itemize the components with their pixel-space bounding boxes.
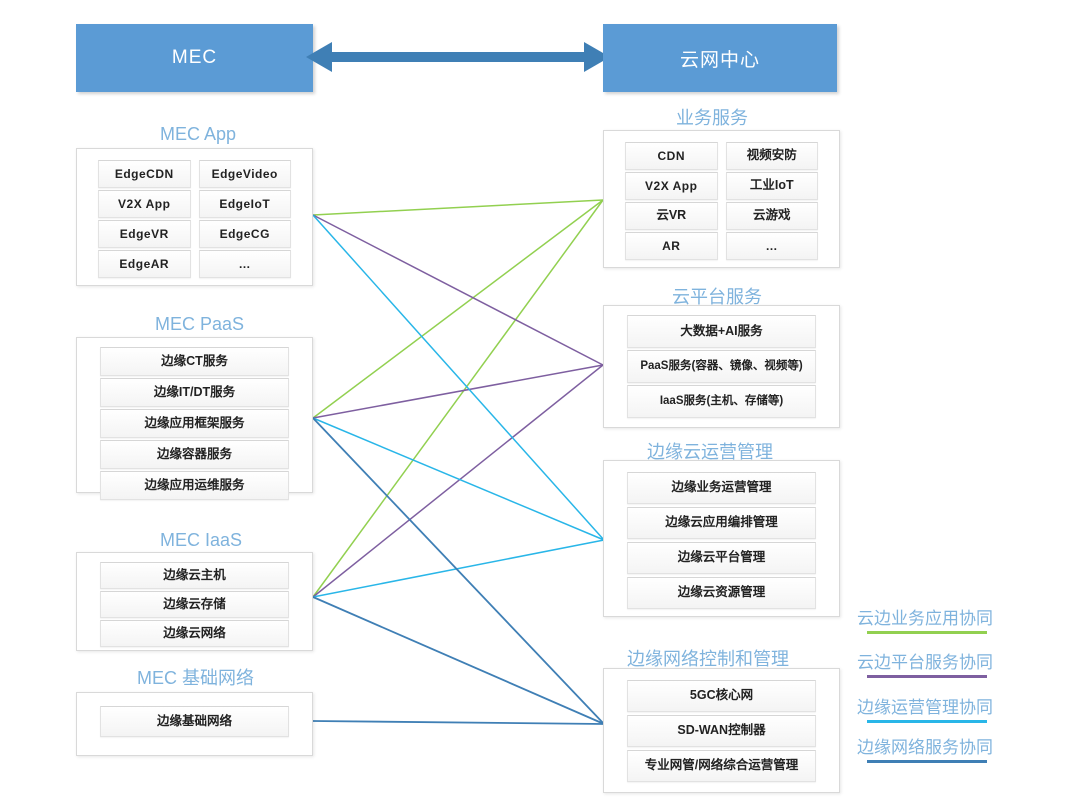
link-paas-to-business — [313, 200, 603, 418]
left-group-0-cell-5[interactable]: EdgeCG — [199, 220, 292, 248]
right-group-2-cell-0[interactable]: 边缘业务运营管理 — [627, 472, 816, 504]
legend-label-1: 云边平台服务协同 — [857, 648, 993, 673]
left-group-1-cell-1[interactable]: 边缘IT/DT服务 — [100, 378, 289, 407]
cell-line-1: (容器、镜像、视频等) — [691, 359, 802, 373]
cloud-center-header-label: 云网中心 — [680, 45, 760, 72]
mec-header-box[interactable]: MEC — [76, 24, 313, 92]
right-group-1-cell-2[interactable]: IaaS服务(主机、存储等) — [627, 385, 816, 418]
left-group-0-cell-0[interactable]: EdgeCDN — [98, 160, 191, 188]
legend-item-2[interactable]: 边缘运营管理协同 — [857, 693, 993, 723]
left-group-1-cell-3[interactable]: 边缘容器服务 — [100, 440, 289, 469]
left-group-title-0: MEC App — [160, 124, 236, 145]
link-paas-to-edge-ops — [313, 418, 604, 540]
legend-label-3: 边缘网络服务协同 — [857, 733, 993, 758]
right-group-0-cell-6[interactable]: AR — [625, 232, 718, 260]
legend-color-rule-1 — [867, 675, 987, 678]
link-iaas-to-network — [313, 597, 604, 724]
right-group-0-cell-1[interactable]: 视频安防 — [726, 142, 819, 170]
legend-item-3[interactable]: 边缘网络服务协同 — [857, 733, 993, 763]
left-group-3-cell-0[interactable]: 边缘基础网络 — [100, 706, 289, 737]
left-group-2-cell-1[interactable]: 边缘云存储 — [100, 591, 289, 618]
link-iaas-to-cloud-platform — [313, 365, 603, 597]
legend-item-1[interactable]: 云边平台服务协同 — [857, 648, 993, 678]
right-group-0-cell-2[interactable]: V2X App — [625, 172, 718, 200]
right-group-0-cell-5[interactable]: 云游戏 — [726, 202, 819, 230]
link-paas-to-network — [313, 418, 604, 724]
right-group-title-0: 业务服务 — [676, 104, 748, 130]
link-app-to-cloud-platform — [313, 215, 603, 365]
legend-label-2: 边缘运营管理协同 — [857, 693, 993, 718]
right-group-1-cell-1[interactable]: PaaS服务(容器、镜像、视频等) — [627, 350, 816, 383]
left-group-0-cell-6[interactable]: EdgeAR — [98, 250, 191, 278]
left-group-title-1: MEC PaaS — [155, 314, 244, 335]
right-group-1-cell-0[interactable]: 大数据+AI服务 — [627, 315, 816, 348]
left-group-title-3: MEC 基础网络 — [137, 664, 254, 690]
arrow-shaft — [330, 52, 586, 62]
right-group-2-cell-3[interactable]: 边缘云资源管理 — [627, 577, 816, 609]
right-group-3-cell-0[interactable]: 5GC核心网 — [627, 680, 816, 712]
cell-line-0: PaaS服务 — [640, 359, 691, 373]
legend-color-rule-3 — [867, 760, 987, 763]
right-group-3-cell-1[interactable]: SD-WAN控制器 — [627, 715, 816, 747]
right-group-3-cell-2[interactable]: 专业网管/网络综合运营管理 — [627, 750, 816, 782]
left-group-0-cell-3[interactable]: EdgeIoT — [199, 190, 292, 218]
mec-header-label: MEC — [172, 47, 217, 69]
link-app-to-business — [313, 200, 603, 215]
right-group-0-cell-0[interactable]: CDN — [625, 142, 718, 170]
right-group-2-cell-2[interactable]: 边缘云平台管理 — [627, 542, 816, 574]
right-group-2-cell-1[interactable]: 边缘云应用编排管理 — [627, 507, 816, 539]
link-iaas-to-edge-ops — [313, 540, 604, 597]
right-group-0-cell-3[interactable]: 工业IoT — [726, 172, 819, 200]
cell-line-0: IaaS服务 — [660, 394, 707, 408]
diagram-canvas: MEC 云网中心 MEC AppEdgeCDNEdgeVideoV2X AppE… — [0, 0, 1080, 798]
left-group-0-cell-2[interactable]: V2X App — [98, 190, 191, 218]
cell-line-1: (主机、存储等) — [707, 394, 784, 408]
cloud-center-header-box[interactable]: 云网中心 — [603, 24, 837, 92]
left-group-1-cell-2[interactable]: 边缘应用框架服务 — [100, 409, 289, 438]
left-group-1-cell-0[interactable]: 边缘CT服务 — [100, 347, 289, 376]
link-iaas-to-business — [313, 200, 603, 597]
link-app-to-edge-ops — [313, 215, 604, 540]
legend-color-rule-0 — [867, 631, 987, 634]
legend-color-rule-2 — [867, 720, 987, 723]
right-group-0-cell-7[interactable]: … — [726, 232, 819, 260]
link-base-network-to-network — [313, 721, 604, 724]
legend-label-0: 云边业务应用协同 — [857, 604, 993, 629]
left-group-0-cell-7[interactable]: … — [199, 250, 292, 278]
left-group-2-cell-0[interactable]: 边缘云主机 — [100, 562, 289, 589]
left-group-title-2: MEC IaaS — [160, 530, 242, 551]
arrow-head-left-icon — [306, 42, 332, 72]
left-group-2-cell-2[interactable]: 边缘云网络 — [100, 620, 289, 647]
left-group-0-cell-4[interactable]: EdgeVR — [98, 220, 191, 248]
legend-item-0[interactable]: 云边业务应用协同 — [857, 604, 993, 634]
left-group-1-cell-4[interactable]: 边缘应用运维服务 — [100, 471, 289, 500]
right-group-0-cell-4[interactable]: 云VR — [625, 202, 718, 230]
link-paas-to-cloud-platform — [313, 365, 603, 418]
left-group-0-cell-1[interactable]: EdgeVideo — [199, 160, 292, 188]
